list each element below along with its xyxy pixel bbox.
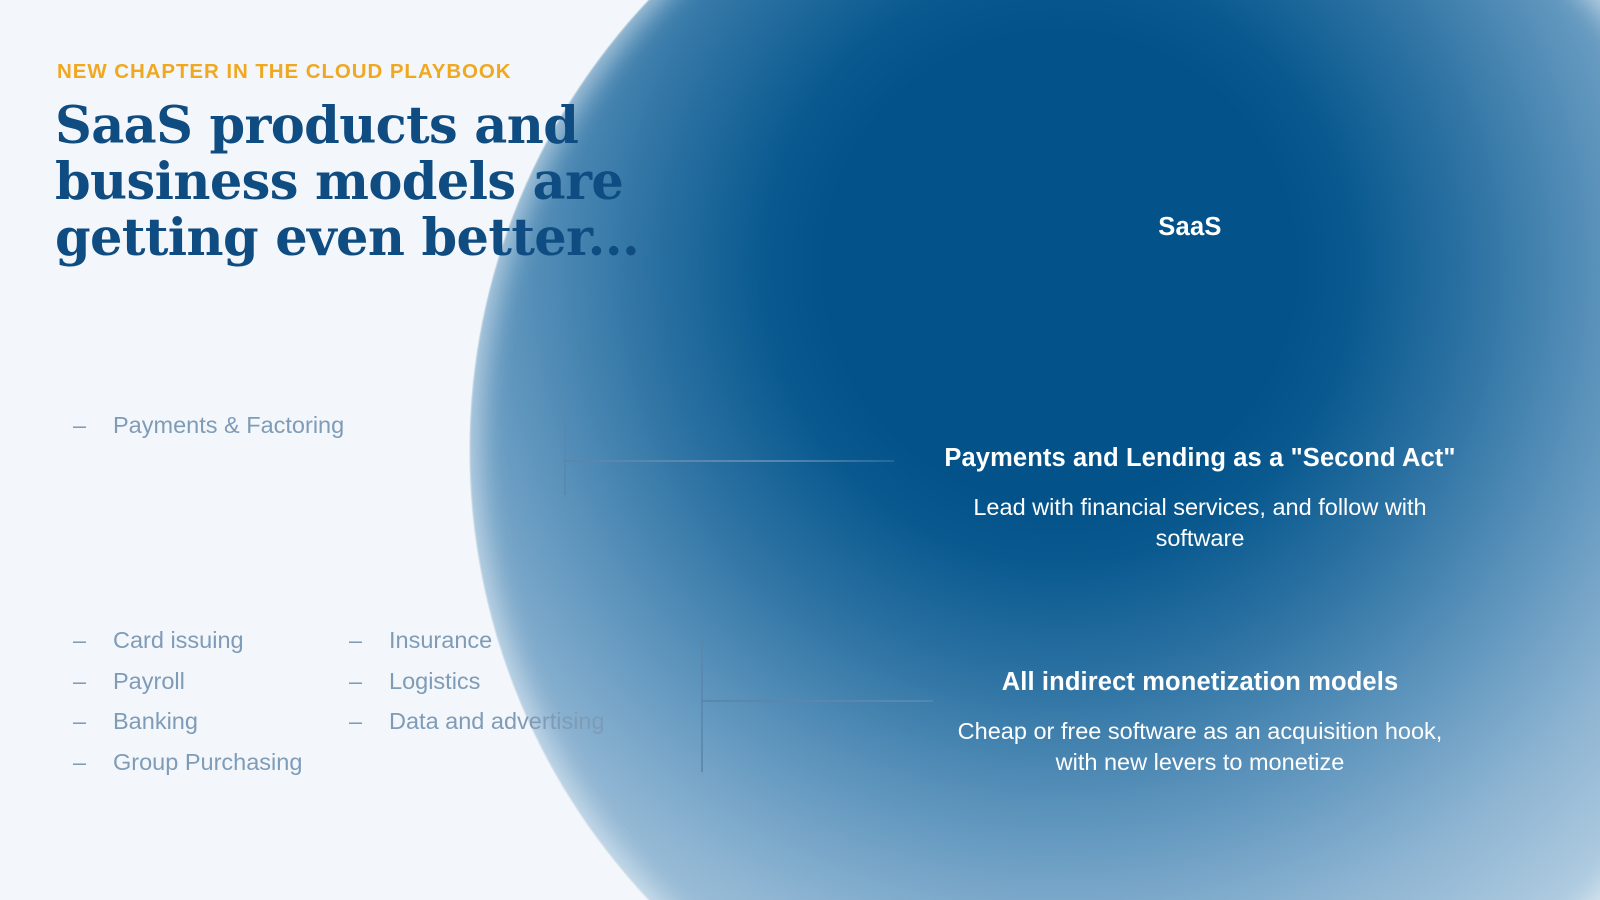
callout-body: Lead with financial services, and follow… [900, 492, 1500, 555]
dash-bullet-icon: – [73, 405, 113, 446]
list-item-label: Payments & Factoring [113, 405, 344, 446]
list-item-label: Group Purchasing [113, 742, 302, 783]
list-item: – Insurance [349, 620, 605, 661]
callout-indirect-monetization: All indirect monetization models Cheap o… [900, 667, 1500, 779]
headline-line-2: business models are [55, 154, 655, 210]
list-item: – Card issuing [73, 620, 302, 661]
connector-horizontal-bar [701, 700, 933, 702]
dash-bullet-icon: – [73, 661, 113, 702]
list-item: – Payments & Factoring [73, 405, 344, 446]
slide-canvas: NEW CHAPTER IN THE CLOUD PLAYBOOK SaaS p… [0, 0, 1600, 900]
dash-bullet-icon: – [349, 620, 389, 661]
connector-bracket-2 [701, 640, 933, 772]
list-item: – Group Purchasing [73, 742, 302, 783]
connector-vertical-bar [564, 400, 566, 495]
list-item: – Banking [73, 701, 302, 742]
dash-bullet-icon: – [349, 701, 389, 742]
bullet-list-indirect-left: – Card issuing – Payroll – Banking – Gro… [73, 620, 302, 783]
saas-orb-label: SaaS [1108, 213, 1272, 242]
callout-title: Payments and Lending as a "Second Act" [900, 443, 1500, 474]
list-item-label: Data and advertising [389, 701, 605, 742]
connector-horizontal-bar [564, 460, 894, 462]
connector-bracket-1 [564, 400, 894, 495]
bullet-list-indirect-right: – Insurance – Logistics – Data and adver… [349, 620, 605, 742]
callout-second-act: Payments and Lending as a "Second Act" L… [900, 443, 1500, 555]
dash-bullet-icon: – [73, 620, 113, 661]
list-item-label: Logistics [389, 661, 480, 702]
dash-bullet-icon: – [73, 742, 113, 783]
list-item-label: Payroll [113, 661, 185, 702]
callout-title: All indirect monetization models [900, 667, 1500, 698]
list-item-label: Card issuing [113, 620, 244, 661]
eyebrow-label: NEW CHAPTER IN THE CLOUD PLAYBOOK [57, 60, 512, 84]
list-item: – Logistics [349, 661, 605, 702]
dash-bullet-icon: – [349, 661, 389, 702]
headline-line-3: getting even better... [55, 210, 655, 266]
callout-body: Cheap or free software as an acquisition… [900, 716, 1500, 779]
bullet-list-payments: – Payments & Factoring [73, 405, 344, 446]
page-title: SaaS products and business models are ge… [55, 98, 655, 266]
connector-vertical-bar [701, 640, 703, 772]
headline-line-1: SaaS products and [55, 98, 655, 154]
list-item: – Payroll [73, 661, 302, 702]
list-item: – Data and advertising [349, 701, 605, 742]
list-item-label: Banking [113, 701, 198, 742]
dash-bullet-icon: – [73, 701, 113, 742]
list-item-label: Insurance [389, 620, 492, 661]
